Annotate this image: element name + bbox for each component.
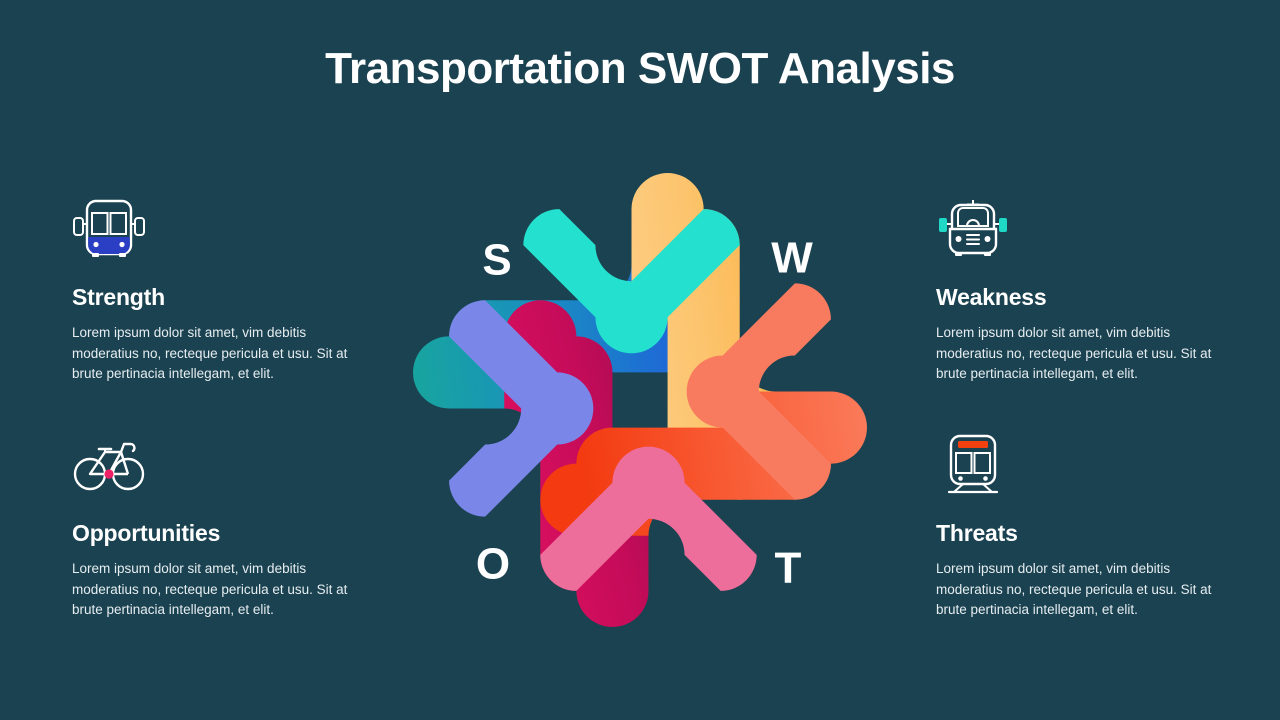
quadrant-panel-strength: Strength Lorem ipsum dolor sit amet, vim… xyxy=(72,196,372,385)
quadrant-panel-weakness: Weakness Lorem ipsum dolor sit amet, vim… xyxy=(936,196,1236,385)
quadrant-body-threats: Lorem ipsum dolor sit amet, vim debitis … xyxy=(936,559,1218,621)
diagram-letter-strength: S xyxy=(482,236,511,285)
diagram-letter-weakness: W xyxy=(771,234,813,283)
van-icon xyxy=(936,196,1010,260)
quadrant-heading-strength: Strength xyxy=(72,284,372,311)
train-icon xyxy=(936,432,1010,496)
quadrant-heading-threats: Threats xyxy=(936,520,1236,547)
quadrant-panel-threats: Threats Lorem ipsum dolor sit amet, vim … xyxy=(936,432,1236,621)
diagram-letter-opportunities: O xyxy=(476,540,510,589)
ribbon-gradient-tails xyxy=(400,160,880,640)
bicycle-icon xyxy=(72,432,146,496)
quadrant-body-strength: Lorem ipsum dolor sit amet, vim debitis … xyxy=(72,323,354,385)
diagram-letter-threats: T xyxy=(775,544,802,593)
quadrant-panel-opportunities: Opportunities Lorem ipsum dolor sit amet… xyxy=(72,432,372,621)
slide-root: Transportation SWOT Analysis xyxy=(0,0,1280,720)
bus-icon xyxy=(72,196,146,260)
quadrant-heading-opportunities: Opportunities xyxy=(72,520,372,547)
quadrant-body-weakness: Lorem ipsum dolor sit amet, vim debitis … xyxy=(936,323,1218,385)
quadrant-body-opportunities: Lorem ipsum dolor sit amet, vim debitis … xyxy=(72,559,354,621)
quadrant-heading-weakness: Weakness xyxy=(936,284,1236,311)
page-title: Transportation SWOT Analysis xyxy=(0,44,1280,94)
swot-diagram: S W O T xyxy=(400,160,880,640)
